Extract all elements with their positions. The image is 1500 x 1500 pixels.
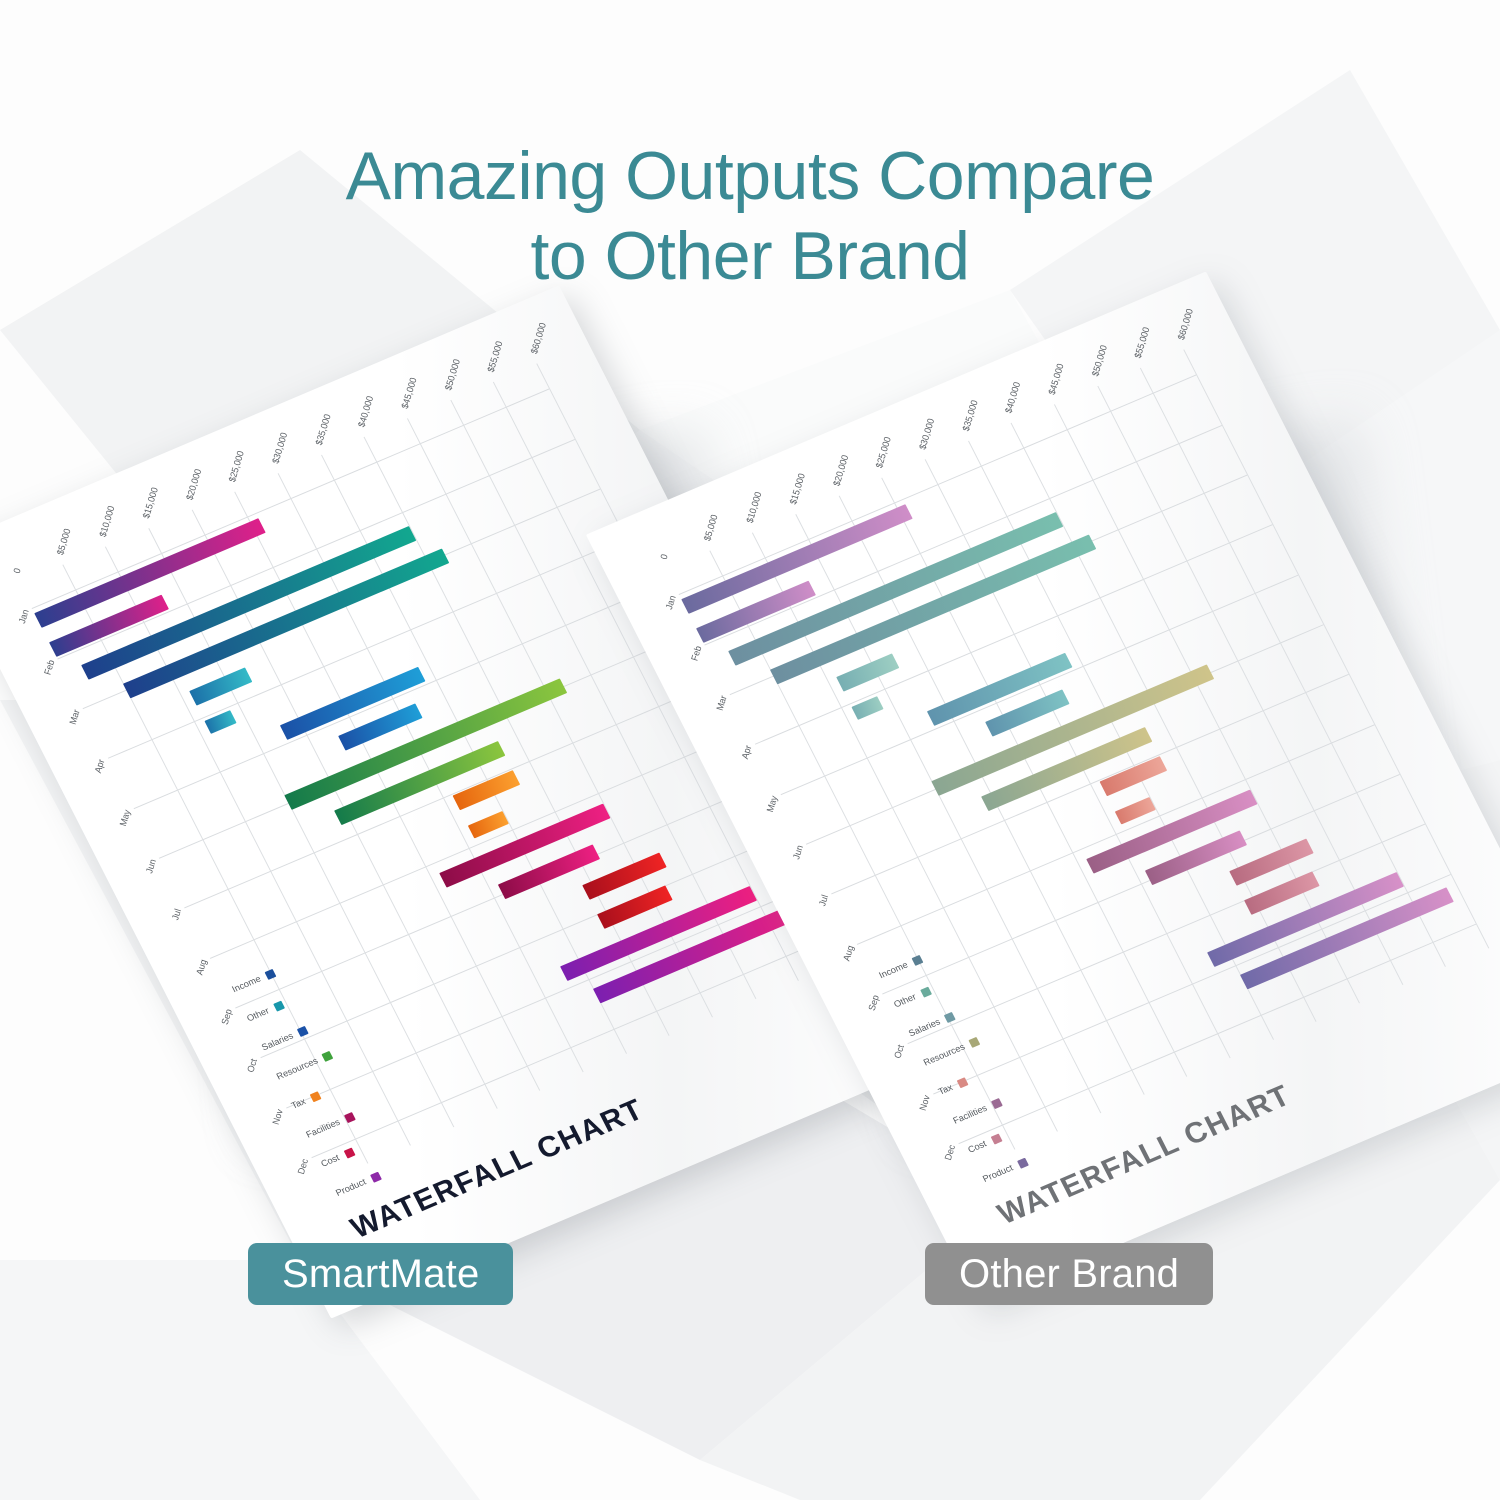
category-tick-label: Mar <box>67 708 82 726</box>
legend-swatch <box>344 1112 356 1123</box>
legend-item: Tax <box>290 1079 349 1112</box>
value-tick-label: 0 <box>659 553 671 561</box>
category-tick-label: May <box>765 794 780 813</box>
legend-swatch <box>343 1148 355 1159</box>
legend-item: Facilities <box>305 1108 364 1141</box>
category-tick-label: Jan <box>664 594 679 611</box>
legend-item: Product <box>334 1166 393 1199</box>
chart-bar <box>931 664 1214 796</box>
page-title-line-2: to Other Brand <box>0 216 1500 296</box>
category-tick-label: Apr <box>740 744 754 760</box>
legend-swatch <box>920 987 932 998</box>
value-tick-label: $5,000 <box>55 528 73 557</box>
legend-item-label: Salaries <box>260 1031 295 1053</box>
legend-item-label: Other <box>892 992 918 1010</box>
chart-bar <box>927 652 1072 725</box>
value-tick-label: $25,000 <box>227 450 247 484</box>
category-tick-label: Jul <box>817 894 831 908</box>
legend-item-label: Resources <box>275 1056 320 1082</box>
value-tick-label: $30,000 <box>270 431 290 465</box>
value-tick-label: $55,000 <box>1133 326 1153 360</box>
chart-bar <box>729 512 1064 666</box>
category-tick-label: May <box>118 808 133 827</box>
legend-swatch <box>912 955 924 966</box>
category-tick-label: Apr <box>93 758 107 774</box>
category-tick-label: Mar <box>714 694 729 712</box>
badge-smartmate[interactable]: SmartMate <box>248 1243 513 1305</box>
chart-bar <box>452 770 520 810</box>
category-tick-label: Nov <box>918 1093 933 1111</box>
value-tick-label: $40,000 <box>1004 381 1024 415</box>
legend-item-label: Other <box>245 1006 271 1024</box>
legend-item-label: Facilities <box>305 1117 343 1140</box>
legend-item: Salaries <box>907 1007 966 1040</box>
value-tick-label: $35,000 <box>314 413 334 447</box>
page-title: Amazing Outputs Compare to Other Brand <box>0 136 1500 296</box>
value-tick-label: $30,000 <box>917 417 937 451</box>
legend-item-label: Product <box>981 1163 1015 1185</box>
category-tick-label: Jun <box>144 858 159 875</box>
value-tick-label: $55,000 <box>486 340 506 374</box>
chart-bar <box>280 666 425 739</box>
chart-bar <box>204 710 236 734</box>
value-tick-label: $50,000 <box>1090 344 1110 378</box>
category-tick-label: Jan <box>17 608 32 625</box>
legend-item: Product <box>981 1152 1040 1185</box>
legend-item: Tax <box>937 1065 996 1098</box>
grid-line-vertical <box>1183 349 1489 948</box>
chart-bar <box>851 696 883 720</box>
category-tick-label: Aug <box>194 958 209 976</box>
legend-item: Other <box>245 992 304 1025</box>
badge-smartmate-label: SmartMate <box>282 1252 479 1297</box>
chart-bar <box>284 678 567 810</box>
value-tick-label: $10,000 <box>745 491 765 525</box>
value-tick-label: $20,000 <box>831 454 851 488</box>
value-tick-label: $45,000 <box>400 376 420 410</box>
legend-swatch <box>956 1077 968 1088</box>
category-tick-label: Jun <box>791 844 806 861</box>
value-tick-label: $40,000 <box>357 395 377 429</box>
legend-item-label: Resources <box>922 1042 967 1068</box>
legend-item: Cost <box>319 1137 378 1170</box>
chart-bar <box>1099 756 1167 796</box>
legend-swatch <box>1017 1158 1029 1169</box>
badge-otherbrand[interactable]: Other Brand <box>925 1243 1213 1305</box>
legend-item-label: Salaries <box>907 1017 942 1039</box>
category-tick-label: Dec <box>296 1157 311 1175</box>
legend-item-label: Cost <box>319 1153 341 1170</box>
category-tick-label: Sep <box>220 1008 235 1026</box>
value-tick-label: $15,000 <box>141 486 161 520</box>
value-tick-label: 0 <box>12 567 24 575</box>
category-tick-label: Sep <box>867 994 882 1012</box>
value-tick-label: $25,000 <box>874 436 894 470</box>
legend-item: Facilities <box>952 1094 1011 1127</box>
page-title-line-1: Amazing Outputs Compare <box>0 136 1500 216</box>
legend-item: Cost <box>966 1123 1025 1156</box>
value-tick-label: $60,000 <box>529 322 549 356</box>
value-tick-label: $50,000 <box>443 358 463 392</box>
category-tick-label: Aug <box>841 944 856 962</box>
value-tick-label: $35,000 <box>961 399 981 433</box>
legend-item-label: Product <box>334 1177 368 1199</box>
legend-swatch <box>944 1012 956 1023</box>
value-tick-label: $60,000 <box>1176 308 1196 342</box>
legend-swatch <box>265 969 277 980</box>
chart-bar <box>82 526 417 680</box>
legend-swatch <box>991 1098 1003 1109</box>
legend-item-label: Tax <box>290 1096 308 1111</box>
legend-item: Other <box>892 978 951 1011</box>
legend-swatch <box>297 1026 309 1037</box>
category-tick-label: Dec <box>943 1143 958 1161</box>
poster-canvas: Amazing Outputs Compare to Other Brand J… <box>0 0 1500 1500</box>
value-tick-label: $15,000 <box>788 472 808 506</box>
legend-swatch <box>370 1172 382 1183</box>
legend-item: Resources <box>922 1036 981 1069</box>
grid-line-vertical <box>1140 368 1446 967</box>
category-tick-label: Oct <box>246 1058 260 1074</box>
category-tick-label: Feb <box>689 644 704 662</box>
legend-item-label: Facilities <box>952 1103 990 1126</box>
legend-swatch <box>990 1134 1002 1145</box>
legend-item: Resources <box>275 1050 334 1083</box>
legend-item-label: Tax <box>937 1082 955 1097</box>
category-tick-label: Feb <box>42 658 57 676</box>
legend-item-label: Cost <box>966 1139 988 1156</box>
value-tick-label: $10,000 <box>98 505 118 539</box>
category-tick-label: Jul <box>170 908 184 922</box>
legend-swatch <box>273 1001 285 1012</box>
legend-item: Salaries <box>260 1021 319 1054</box>
legend-swatch <box>309 1091 321 1102</box>
category-tick-label: Oct <box>893 1044 907 1060</box>
badge-otherbrand-label: Other Brand <box>959 1252 1179 1297</box>
category-tick-label: Nov <box>271 1107 286 1125</box>
value-tick-label: $5,000 <box>702 514 720 543</box>
value-tick-label: $20,000 <box>184 468 204 502</box>
value-tick-label: $45,000 <box>1047 362 1067 396</box>
